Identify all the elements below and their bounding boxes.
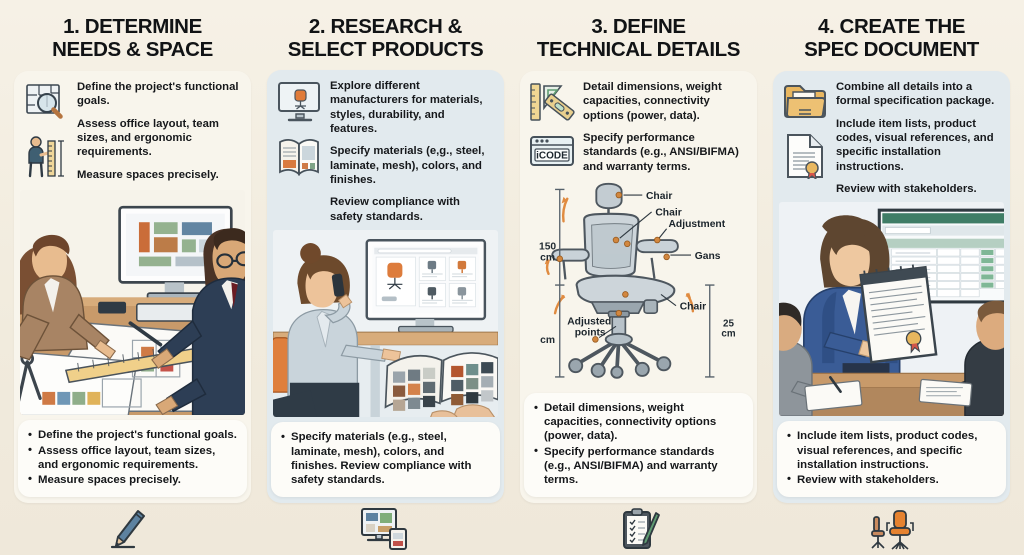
step-3-text-stack: Detail dimensions, weight capacities, co…: [583, 80, 747, 174]
step-4-point-2: Review with stakeholders.: [836, 182, 1000, 196]
step-column-4: 4. CREATE THE SPEC DOCUMENT: [765, 10, 1018, 503]
step-3-summary-item: Specify performance standards (e.g., ANS…: [534, 445, 743, 487]
step-3-point-1: Specify performance standards (e.g., ANS…: [583, 131, 747, 174]
chair-lower-unit: cm: [540, 335, 555, 346]
step-2-point-2: Review compliance with safety standards.: [330, 195, 494, 224]
footer-cell-4: [768, 507, 1024, 551]
step-1-bullets: Define the project's functional goals. A…: [14, 71, 251, 188]
icode-label: iCODE: [536, 150, 568, 161]
icode-browser-icon: iCODE: [529, 135, 575, 172]
callout-adjusted-line1: Adjusted: [567, 316, 611, 327]
footer-icon-strip: [0, 503, 1024, 555]
step-column-3: 3. DEFINE TECHNICAL DETAILS: [512, 10, 765, 503]
seat-height-value: 25: [723, 318, 734, 329]
step-2-title-line2: SELECT PRODUCTS: [267, 39, 504, 62]
monitor-floorplan-icon: [360, 507, 408, 551]
steps-columns: 1. DETERMINE NEEDS & SPACE: [0, 0, 1024, 503]
step-4-point-1: Include item lists, product codes, visua…: [836, 117, 1000, 174]
step-3-title-line2: TECHNICAL DETAILS: [520, 39, 757, 62]
step-4-point-0: Combine all details into a formal specif…: [836, 80, 1000, 109]
monitor-chair-icon: [277, 81, 321, 128]
step-1-title-line2: NEEDS & SPACE: [14, 39, 251, 62]
step-4-summary-item: Include item lists, product codes, visua…: [787, 429, 996, 471]
step-1-title: 1. DETERMINE NEEDS & SPACE: [14, 10, 251, 71]
step-2-bullets: Explore different manufacturers for mate…: [267, 70, 504, 228]
callout-adjusted-line2: points: [575, 328, 606, 339]
pen-icon: [107, 508, 149, 550]
callout-chair-top: Chair: [646, 191, 672, 202]
footer-cell-3: [512, 507, 768, 551]
step-1-text-stack: Define the project's functional goals. A…: [77, 80, 241, 184]
step-1-icon-stack: [23, 80, 69, 184]
step-1-illustration: [20, 190, 245, 416]
step-1-summary-item: Measure spaces precisely.: [28, 473, 237, 487]
step-2-title-line1: 2. RESEARCH &: [309, 15, 462, 38]
step-2-icon-stack: [276, 79, 322, 224]
step-4-icon-stack: [782, 80, 828, 196]
step-4-title-line1: 4. CREATE THE: [818, 15, 965, 38]
step-4-bullets: Combine all details into a formal specif…: [773, 71, 1010, 200]
office-chairs-icon: [870, 507, 922, 551]
step-1-summary-item: Define the project's functional goals.: [28, 428, 237, 442]
infographic-board: 1. DETERMINE NEEDS & SPACE: [0, 0, 1024, 555]
step-3-bullets: iCODE Detail dimensions, weight capaciti…: [520, 71, 757, 178]
step-2-illustration: [273, 230, 498, 417]
callout-chair-back: Chair: [655, 208, 681, 219]
step-2-point-1: Specify materials (e,g., steel, laminate…: [330, 144, 494, 187]
step-4-title: 4. CREATE THE SPEC DOCUMENT: [773, 10, 1010, 71]
step-4-summary-item: Review with stakeholders.: [787, 473, 996, 487]
step-column-1: 1. DETERMINE NEEDS & SPACE: [6, 10, 259, 503]
callout-adjustment: Adjustment: [669, 219, 726, 230]
open-catalog-icon: [277, 136, 321, 183]
step-2-panel: Explore different manufacturers for mate…: [267, 70, 504, 503]
step-3-panel: iCODE Detail dimensions, weight capaciti…: [520, 71, 757, 503]
step-2-summary-item: Specify materials (e.g., steel, laminate…: [281, 430, 490, 487]
chair-height-value: 150: [539, 241, 556, 252]
step-2-summary: Specify materials (e.g., steel, laminate…: [271, 422, 500, 497]
clipboard-checklist-icon: [618, 507, 662, 551]
step-column-2: 2. RESEARCH & SELECT PRODUCTS: [259, 10, 512, 503]
step-3-summary-item: Detail dimensions, weight capacities, co…: [534, 401, 743, 443]
step-4-summary: Include item lists, product codes, visua…: [777, 421, 1006, 497]
step-1-summary-item: Assess office layout, team sizes, and er…: [28, 444, 237, 472]
step-2-title: 2. RESEARCH & SELECT PRODUCTS: [267, 10, 504, 70]
step-2-point-0: Explore different manufacturers for mate…: [330, 79, 494, 136]
step-1-point-1: Assess office layout, team sizes, and er…: [77, 117, 241, 160]
step-3-summary: Detail dimensions, weight capacities, co…: [524, 393, 753, 497]
step-3-title: 3. DEFINE TECHNICAL DETAILS: [520, 10, 757, 71]
step-1-panel: Define the project's functional goals. A…: [14, 71, 251, 503]
step-1-title-line1: 1. DETERMINE: [63, 15, 202, 38]
step-1-summary: Define the project's functional goals. A…: [18, 420, 247, 497]
person-measuring-icon: [25, 135, 67, 184]
step-4-illustration: [779, 202, 1004, 416]
folder-icon: [782, 82, 828, 125]
certificate-document-icon: [784, 133, 826, 184]
step-4-panel: Combine all details into a formal specif…: [773, 71, 1010, 503]
footer-cell-1: [0, 508, 256, 550]
step-2-text-stack: Explore different manufacturers for mate…: [330, 79, 494, 224]
step-4-text-stack: Combine all details into a formal specif…: [836, 80, 1000, 196]
ruler-level-icon: [529, 82, 575, 127]
floorplan-magnifier-icon: [25, 82, 67, 127]
step-1-point-0: Define the project's functional goals.: [77, 80, 241, 109]
step-3-point-0: Detail dimensions, weight capacities, co…: [583, 80, 747, 123]
step-3-title-line1: 3. DEFINE: [591, 15, 685, 38]
footer-cell-2: [256, 507, 512, 551]
seat-height-unit: cm: [721, 329, 735, 340]
step-3-icon-stack: iCODE: [529, 80, 575, 174]
callout-gans: Gans: [695, 251, 721, 262]
step-1-point-2: Measure spaces precisely.: [77, 168, 241, 182]
step-4-title-line2: SPEC DOCUMENT: [773, 39, 1010, 62]
chair-height-unit: cm: [540, 253, 555, 264]
callout-chair-base: Chair: [680, 301, 706, 312]
step-3-illustration: 150 cm cm 25 cm: [526, 180, 751, 388]
